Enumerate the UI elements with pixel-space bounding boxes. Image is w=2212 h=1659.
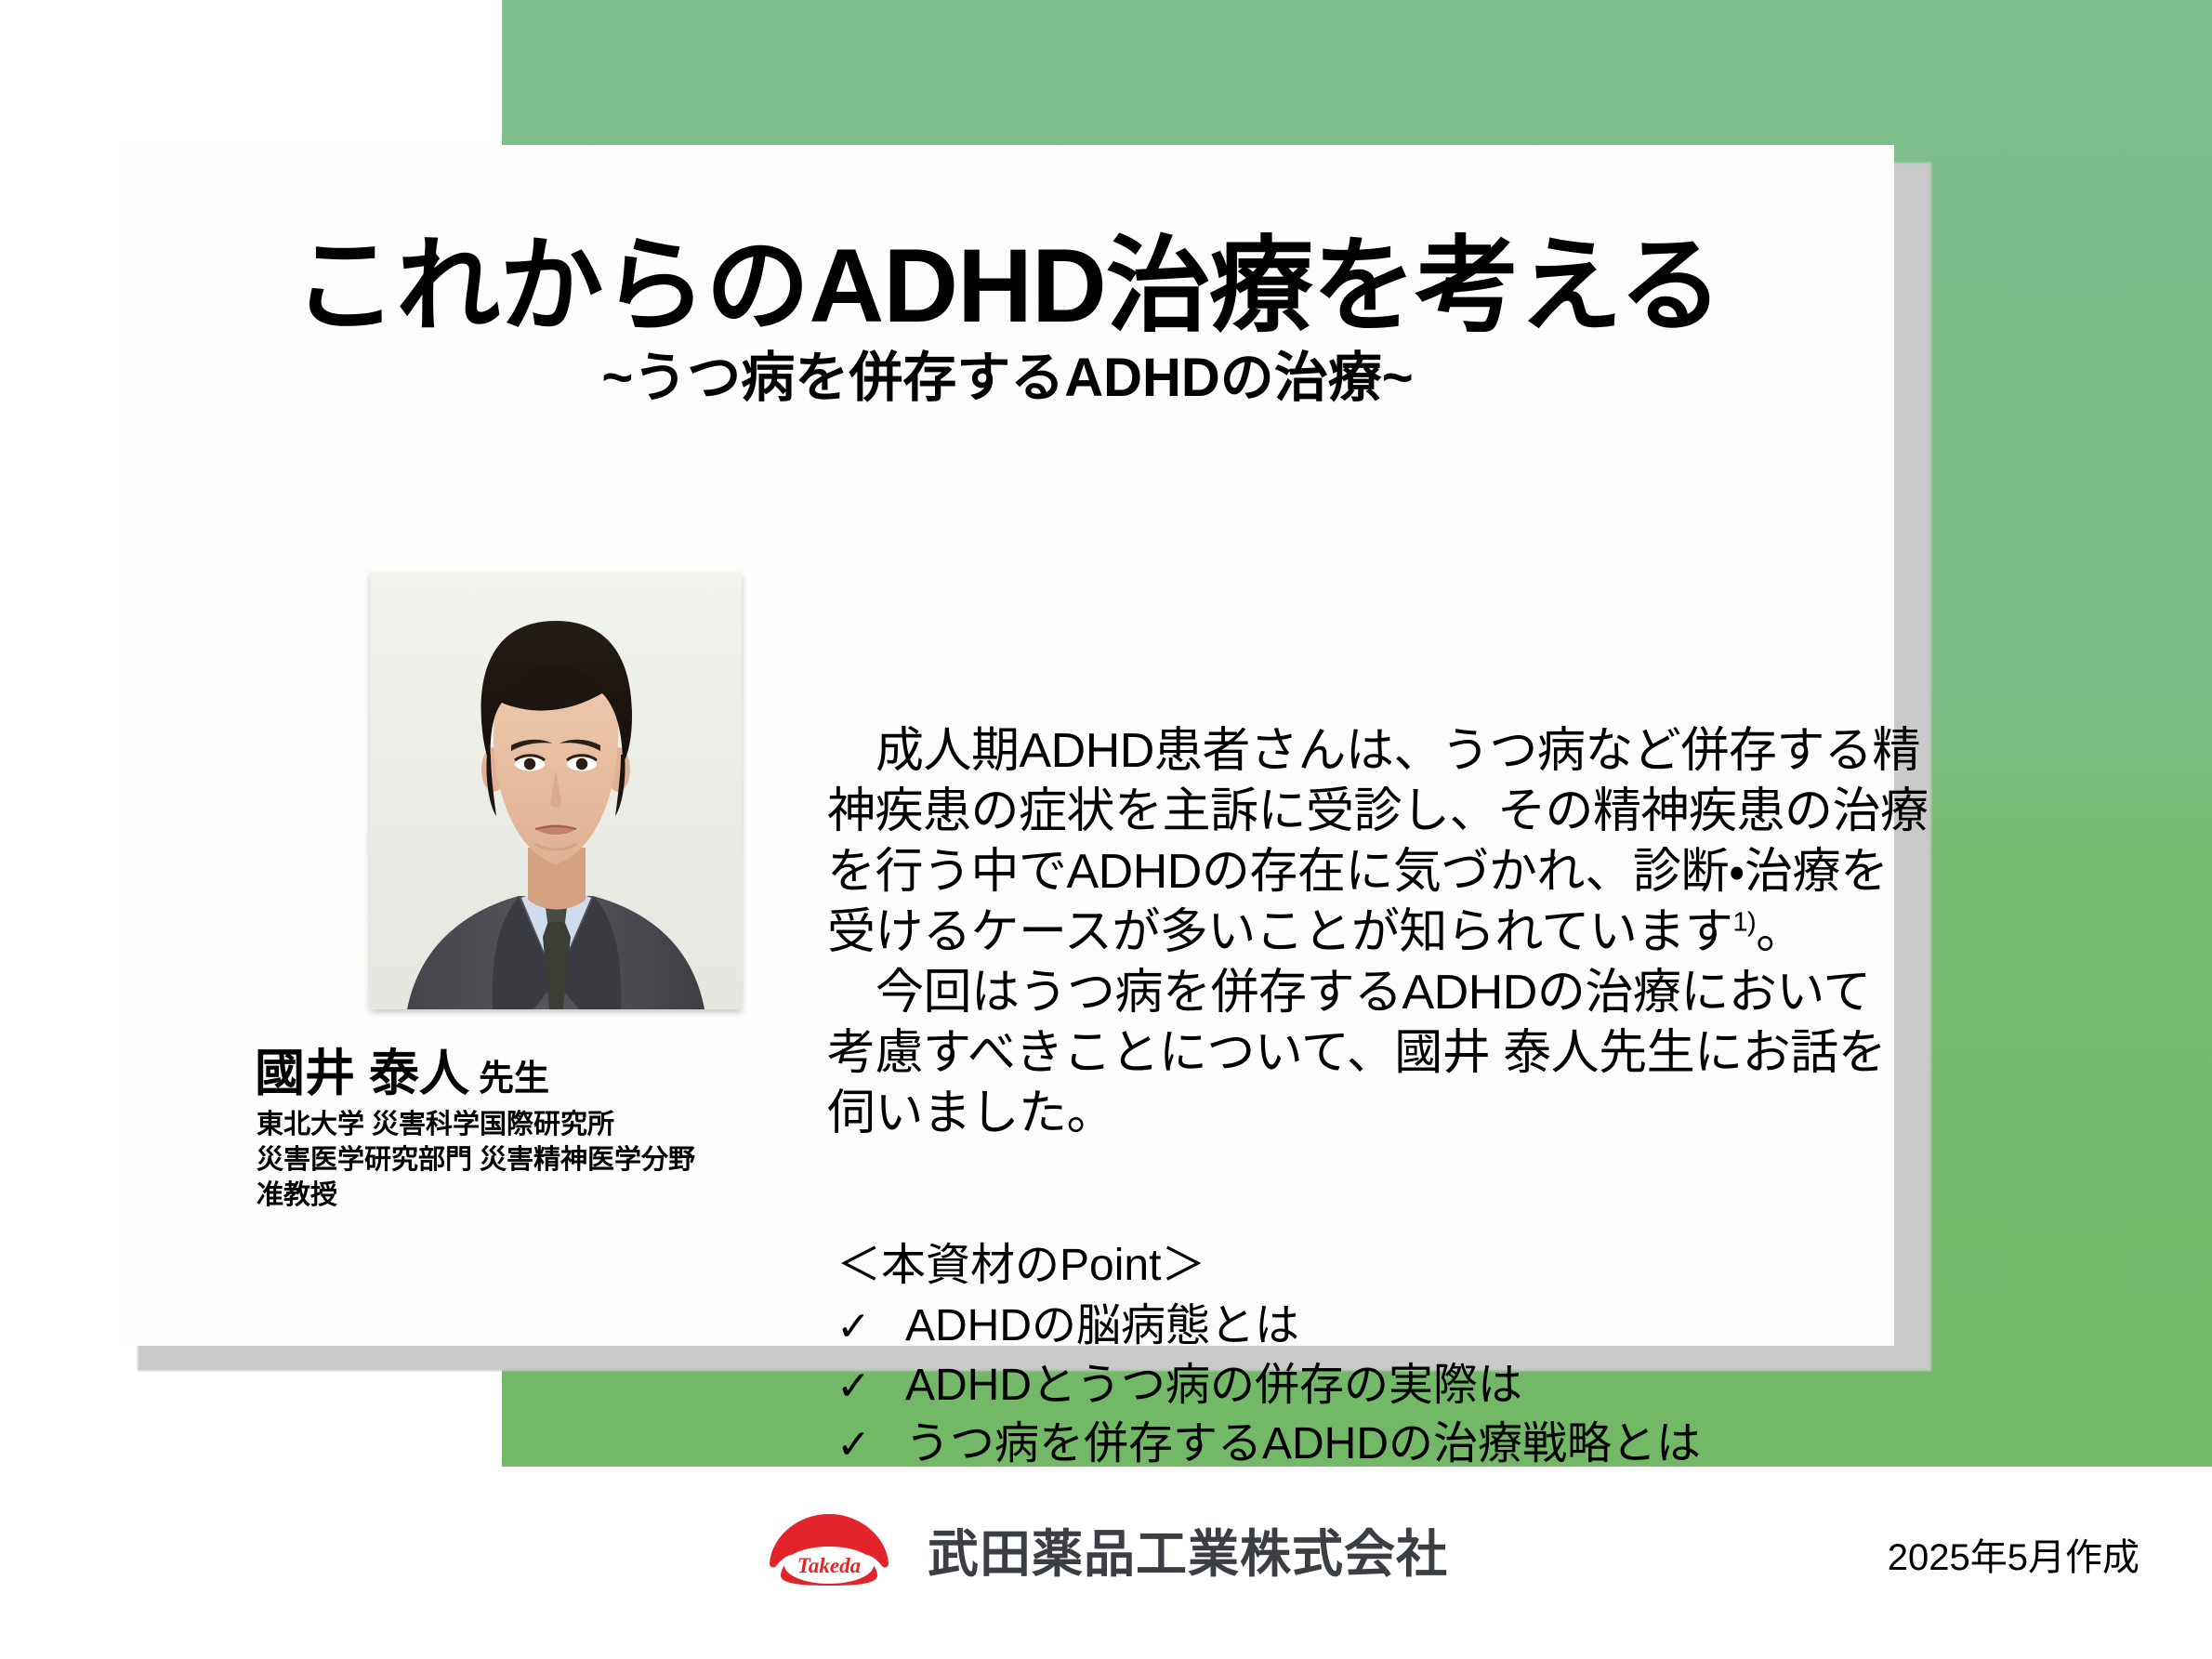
speaker-honorific: 先生 bbox=[479, 1060, 549, 1099]
points-section: ＜本資材のPoint＞ ✓ ADHDの脳病態とは ✓ ADHDとうつ病の併存の実… bbox=[836, 1237, 2008, 1473]
point-label-2: ADHDとうつ病の併存の実際は bbox=[905, 1356, 1522, 1415]
footer: Takeda 武田薬品工業株式会社 2025年5月作成 bbox=[0, 1468, 2212, 1659]
page-subtitle: ~うつ病を併存するADHDの治療~ bbox=[121, 349, 1894, 408]
point-item: ✓ ADHDの脳病態とは bbox=[836, 1297, 2008, 1355]
intro-paragraph-1: 成人期ADHD患者さんは、うつ病など併存する精 神疾患の症状を主訴に受診し、その… bbox=[827, 721, 2008, 963]
check-icon: ✓ bbox=[836, 1418, 905, 1472]
svg-text:Takeda: Takeda bbox=[797, 1554, 861, 1577]
affiliation-line-1: 東北大学 災害科学国際研究所 bbox=[257, 1108, 762, 1143]
paragraph-2-line-1: 今回はうつ病を併存するADHDの治療において bbox=[876, 966, 1871, 1020]
revision-date: 2025年5月作成 bbox=[1888, 1527, 2140, 1581]
reference-superscript: 1) bbox=[1732, 908, 1756, 938]
point-item: ✓ うつ病を併存するADHDの治療戦略とは bbox=[836, 1415, 2008, 1473]
paragraph-1-period: 。 bbox=[1756, 905, 1804, 959]
speaker-affiliation: 東北大学 災害科学国際研究所 災害医学研究部門 災害精神医学分野 准教授 bbox=[257, 1108, 762, 1213]
page-title: これからのADHD治療を考える bbox=[121, 230, 1894, 343]
slide-root: これからのADHD治療を考える ~うつ病を併存するADHDの治療~ bbox=[0, 0, 2212, 1659]
point-label-3: うつ病を併存するADHDの治療戦略とは bbox=[905, 1415, 1701, 1473]
affiliation-line-2: 災害医学研究部門 災害精神医学分野 bbox=[257, 1143, 762, 1178]
intro-body: 成人期ADHD患者さんは、うつ病など併存する精 神疾患の症状を主訴に受診し、その… bbox=[827, 721, 2008, 1144]
paragraph-1-line-2: 神疾患の症状を主訴に受診し、その精神疾患の治療 bbox=[827, 782, 2008, 842]
content-card: これからのADHD治療を考える ~うつ病を併存するADHDの治療~ bbox=[121, 145, 1894, 1346]
title-block: これからのADHD治療を考える ~うつ病を併存するADHDの治療~ bbox=[121, 230, 1894, 408]
intro-paragraph-2: 今回はうつ病を併存するADHDの治療において 考慮すべきことについて、國井 泰人… bbox=[827, 963, 2008, 1144]
speaker-column: 國井 泰人先生 東北大学 災害科学国際研究所 災害医学研究部門 災害精神医学分野… bbox=[242, 573, 762, 1213]
points-heading: ＜本資材のPoint＞ bbox=[836, 1237, 2008, 1295]
takeda-logo-icon: Takeda bbox=[764, 1509, 894, 1589]
speaker-portrait bbox=[370, 573, 742, 1009]
paragraph-2-line-2: 考慮すべきことについて、國井 泰人先生にお話を bbox=[827, 1023, 2008, 1084]
speaker-name-text: 國井 泰人 bbox=[255, 1046, 469, 1101]
paragraph-1-line-3: を行う中でADHDの存在に気づかれ、診断・治療を bbox=[827, 842, 2008, 902]
point-label-1: ADHDの脳病態とは bbox=[905, 1297, 1299, 1355]
speaker-name: 國井 泰人先生 bbox=[255, 1047, 762, 1100]
paragraph-1-line-1: 成人期ADHD患者さんは、うつ病など併存する精 bbox=[876, 724, 1920, 778]
affiliation-line-3: 准教授 bbox=[257, 1178, 762, 1214]
point-item: ✓ ADHDとうつ病の併存の実際は bbox=[836, 1356, 2008, 1415]
check-icon: ✓ bbox=[836, 1300, 905, 1354]
paragraph-1-line-4: 受けるケースが多いことが知られています bbox=[827, 905, 1732, 959]
company-name: 武田薬品工業株式会社 bbox=[928, 1512, 1448, 1587]
brand-lockup: Takeda 武田薬品工業株式会社 bbox=[0, 1509, 2212, 1589]
paragraph-2-line-3: 伺いました。 bbox=[827, 1084, 2008, 1144]
check-icon: ✓ bbox=[836, 1360, 905, 1414]
